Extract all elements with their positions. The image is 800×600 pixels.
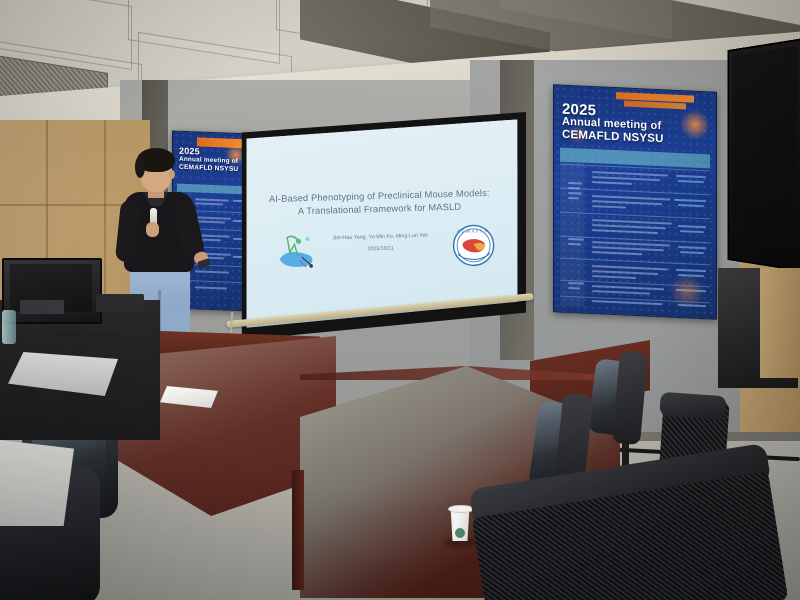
desktop-monitor <box>2 258 102 324</box>
desk-equipment-1 <box>96 294 144 312</box>
chair-left-cover <box>0 440 74 526</box>
conference-room-photo: 2025 Annual meeting of CEMAFLD NSYSU <box>0 0 800 600</box>
table-leg <box>292 470 304 590</box>
presenter-hand-left <box>146 222 159 237</box>
wall-mounted-display <box>727 38 800 272</box>
cemafld-liver-crest: CEMAFLD <box>451 223 496 268</box>
poster-right-title: 2025 Annual meeting of CEMAFLD NSYSU <box>562 102 712 148</box>
desk-equipment-2 <box>20 300 64 314</box>
presenter-sideburn <box>135 156 145 178</box>
projection-screen: AI-Based Phenotyping of Preclinical Mous… <box>236 112 526 347</box>
cup-logo-icon <box>455 528 465 538</box>
slide-title: AI-Based Phenotyping of Preclinical Mous… <box>240 186 519 221</box>
display-screen <box>733 46 798 247</box>
water-bottle[interactable] <box>2 310 16 344</box>
presenter-ear <box>169 170 175 179</box>
desk-cables <box>52 330 122 337</box>
cup-rim <box>448 505 474 513</box>
cemafld-crest-text: CEMAFLD <box>457 228 489 234</box>
wood-panel-right-lower <box>760 268 800 378</box>
poster-right: 2025 Annual meeting of CEMAFLD NSYSU <box>553 84 717 319</box>
